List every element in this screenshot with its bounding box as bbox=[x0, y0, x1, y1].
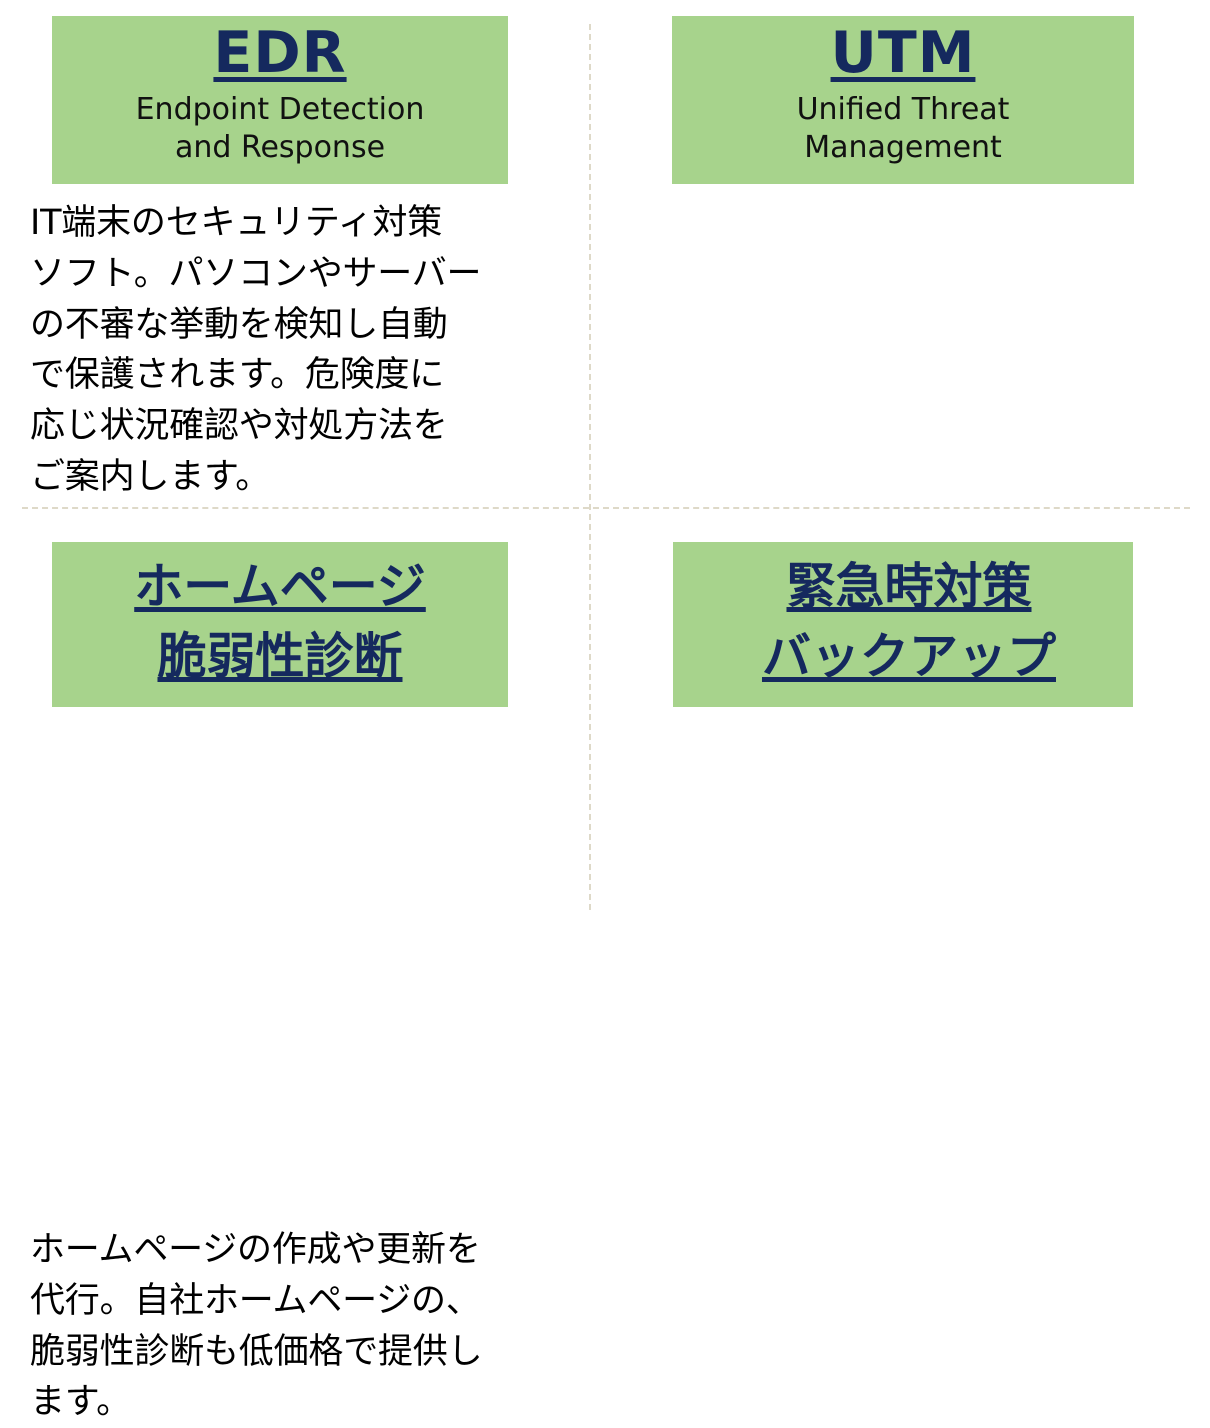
card-edr-acronym: EDR bbox=[52, 16, 508, 82]
card-emergency-title: 緊急時対策 バックアップ bbox=[679, 542, 1139, 691]
card-utm-acronym: UTM bbox=[672, 16, 1134, 82]
card-emergency-banner: 緊急時対策 バックアップ bbox=[673, 542, 1133, 707]
card-utm-banner: UTM Unified Threat Management bbox=[672, 16, 1134, 184]
services-grid: EDR Endpoint Detection and Response IT端末… bbox=[0, 0, 1210, 936]
card-homepage-banner: ホームページ 脆弱性診断 bbox=[52, 542, 508, 707]
card-edr-description: IT端末のセキュリティ対策 ソフト。パソコンやサーバー の不審な挙動を検知し自動… bbox=[30, 198, 565, 503]
card-utm-subtitle: Unified Threat Management bbox=[672, 82, 1134, 167]
card-emergency-backup: 緊急時対策 バックアップ 緊急時に備えファイルだけで なく、システム全体をバック… bbox=[591, 509, 1210, 936]
card-edr: EDR Endpoint Detection and Response IT端末… bbox=[0, 0, 589, 507]
card-homepage-title: ホームページ 脆弱性診断 bbox=[52, 542, 508, 691]
card-homepage-vulnerability-diagnosis: ホームページ 脆弱性診断 ホームページの作成や更新を 代行。自社ホームページの、… bbox=[0, 509, 589, 936]
card-homepage-description: ホームページの作成や更新を 代行。自社ホームページの、 脆弱性診断も低価格で提供… bbox=[30, 1225, 585, 1428]
card-edr-subtitle: Endpoint Detection and Response bbox=[52, 82, 508, 167]
card-edr-banner: EDR Endpoint Detection and Response bbox=[52, 16, 508, 184]
card-utm: UTM Unified Threat Management 社内ネットワークを包… bbox=[591, 0, 1210, 507]
